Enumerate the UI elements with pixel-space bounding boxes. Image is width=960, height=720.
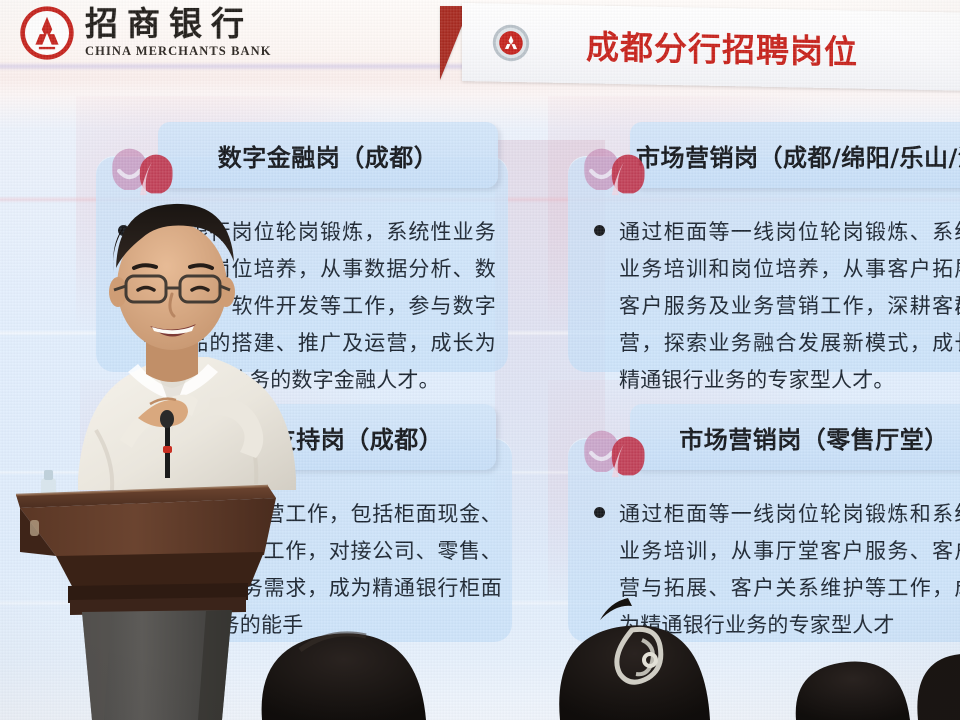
card-bullet: 通过柜面等一线岗位轮岗锻炼和系统性业务培训，从事厅堂客户服务、客户经营与拓展、客… (594, 496, 960, 644)
cmb-logo-icon (18, 4, 76, 62)
bullet-dot-icon (118, 225, 129, 236)
card-bullet: 通过柜面等一线岗位轮岗锻炼、系统性业务培训和岗位培养，从事客户拓展、客户服务及业… (594, 214, 960, 399)
card-bullet: 从事柜面运营工作，包括柜面现金、对公结算等工作，对接公司、零售、现金等业务需求，… (130, 496, 502, 644)
cmb-brand-logo: 招商银行 CHINA MERCHANTS BANK (18, 4, 272, 62)
card-title-text: 数字金融岗（成都） (218, 138, 439, 173)
card-marketing-multi-city: 市场营销岗（成都/绵阳/乐山/泸 通过柜面等一线岗位轮岗锻炼、系统性业务培训和岗… (568, 122, 960, 372)
card-bullet-text: 通过柜面等一线岗位轮岗锻炼、系统性业务培训和岗位培养，从事客户拓展、客户服务及业… (619, 214, 960, 399)
card-title-bar: 运营支持岗（成都） (170, 404, 496, 470)
brand-name-cn: 招商银行 (85, 6, 272, 42)
two-people-icon (102, 128, 188, 202)
brand-wordmark: 招商银行 CHINA MERCHANTS BANK (85, 4, 272, 58)
card-bullet-text: 从事柜面运营工作，包括柜面现金、对公结算等工作，对接公司、零售、现金等业务需求，… (155, 496, 502, 644)
card-marketing-retail-hall: 市场营销岗（零售厅堂） 通过柜面等一线岗位轮岗锻炼和系统性业务培训，从事厅堂客户… (568, 404, 960, 642)
card-title-text: 市场营销岗（成都/绵阳/乐山/泸 (636, 138, 960, 173)
card-digital-finance: 数字金融岗（成都） 通过银行岗位轮岗锻炼，系统性业务培训和岗位培养，从事数据分析… (96, 122, 508, 372)
card-title-bar: 市场营销岗（零售厅堂） (630, 404, 960, 470)
header-banner: 成都分行招聘岗位 (440, 0, 960, 96)
bullet-dot-icon (594, 225, 605, 236)
projection-screen: 招商银行 CHINA MERCHANTS BANK 成都分行招聘岗位 (0, 0, 960, 720)
screenshot-root: 招商银行 CHINA MERCHANTS BANK 成都分行招聘岗位 (0, 0, 960, 720)
card-bullet: 通过银行岗位轮岗锻炼，系统性业务培训和岗位培养，从事数据分析、数据挖掘、软件开发… (118, 214, 496, 399)
bullet-dot-icon (594, 507, 605, 518)
bullet-dot-icon (130, 507, 141, 518)
card-bullet-text: 通过柜面等一线岗位轮岗锻炼和系统性业务培训，从事厅堂客户服务、客户经营与拓展、客… (619, 496, 960, 644)
card-title-text: 运营支持岗（成都） (223, 420, 444, 455)
card-title-bar: 数字金融岗（成都） (158, 122, 498, 188)
cmb-emblem-icon (492, 24, 530, 63)
card-title-bar: 市场营销岗（成都/绵阳/乐山/泸 (630, 122, 960, 188)
brand-name-en: CHINA MERCHANTS BANK (85, 44, 272, 58)
two-people-icon (114, 410, 200, 484)
banner-title: 成都分行招聘岗位 (586, 20, 858, 73)
two-people-icon (574, 128, 660, 202)
two-people-icon (574, 410, 660, 484)
card-bullet-text: 通过银行岗位轮岗锻炼，系统性业务培训和岗位培养，从事数据分析、数据挖掘、软件开发… (143, 214, 496, 399)
card-operations-support: 运营支持岗（成都） 从事柜面运营工作，包括柜面现金、对公结算等工作，对接公司、零… (108, 404, 512, 642)
card-title-text: 市场营销岗（零售厅堂） (679, 420, 949, 455)
